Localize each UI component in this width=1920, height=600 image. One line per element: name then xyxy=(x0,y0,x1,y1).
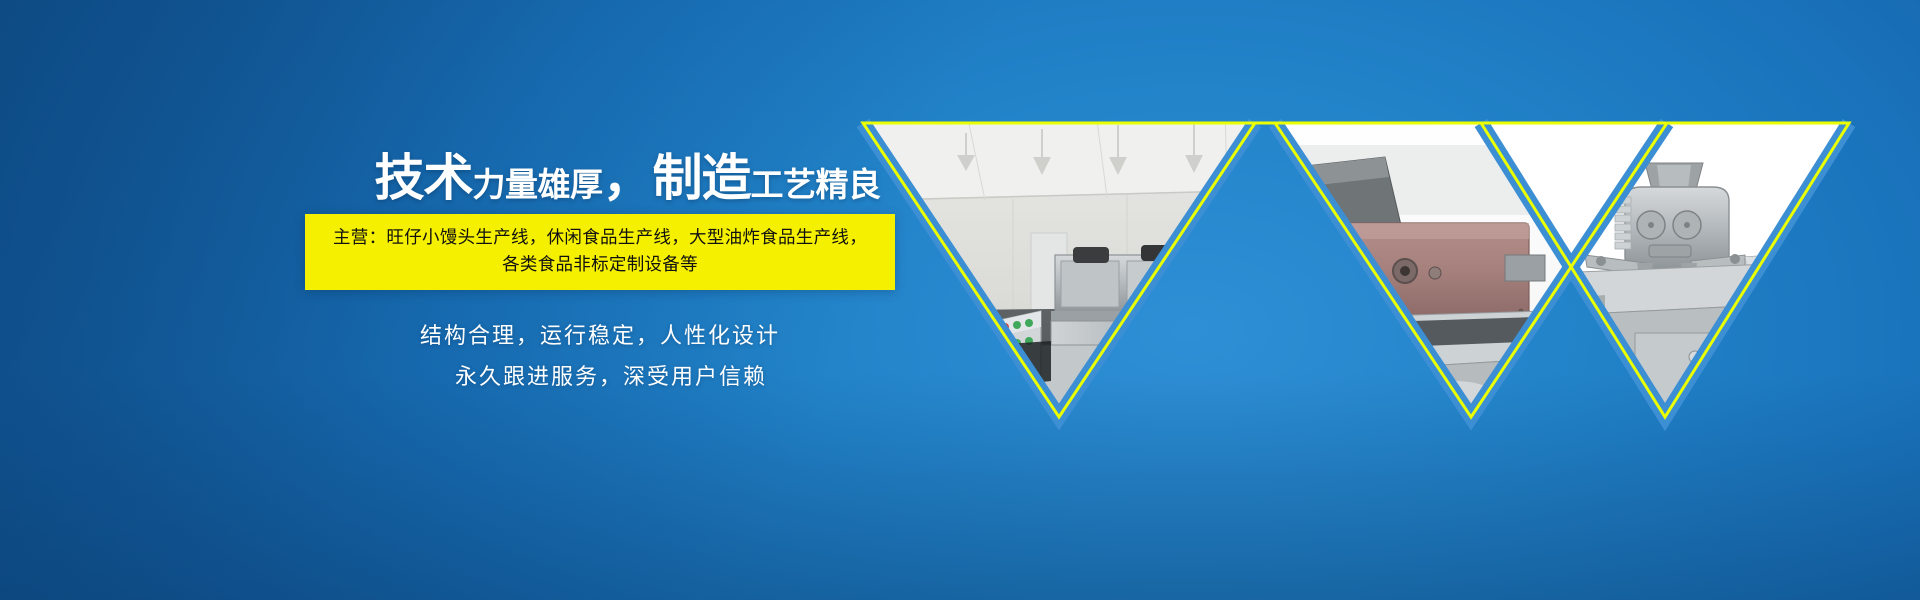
headline-part1: 技术 xyxy=(375,153,473,203)
main-products-ribbon: 主营：旺仔小馒头生产线，休闲食品生产线，大型油炸食品生产线， 各类食品非标定制设… xyxy=(305,214,895,290)
slogan-line-2: 永久跟进服务，深受用户信赖 xyxy=(322,357,900,398)
ribbon-line-1: 主营：旺仔小馒头生产线，休闲食品生产线，大型油炸食品生产线， xyxy=(317,224,883,251)
triangle-photo-collage xyxy=(845,105,1865,435)
headline-part3: 制造 xyxy=(653,153,751,203)
collage-svg xyxy=(845,105,1865,435)
slogan-list: 结构合理，运行稳定，人性化设计 永久跟进服务，深受用户信赖 xyxy=(300,316,900,397)
headline-comma: ， xyxy=(603,153,653,203)
banner-text-block: 技术 力量雄厚 ， 制造 工艺精良 主营：旺仔小馒头生产线，休闲食品生产线，大型… xyxy=(300,150,900,398)
promo-banner: 技术 力量雄厚 ， 制造 工艺精良 主营：旺仔小馒头生产线，休闲食品生产线，大型… xyxy=(0,0,1920,600)
page-title: 技术 力量雄厚 ， 制造 工艺精良 xyxy=(355,150,900,206)
ribbon-line-2: 各类食品非标定制设备等 xyxy=(317,251,883,278)
headline-part2: 力量雄厚 xyxy=(473,168,603,201)
slogan-line-1: 结构合理，运行稳定，人性化设计 xyxy=(300,316,900,357)
